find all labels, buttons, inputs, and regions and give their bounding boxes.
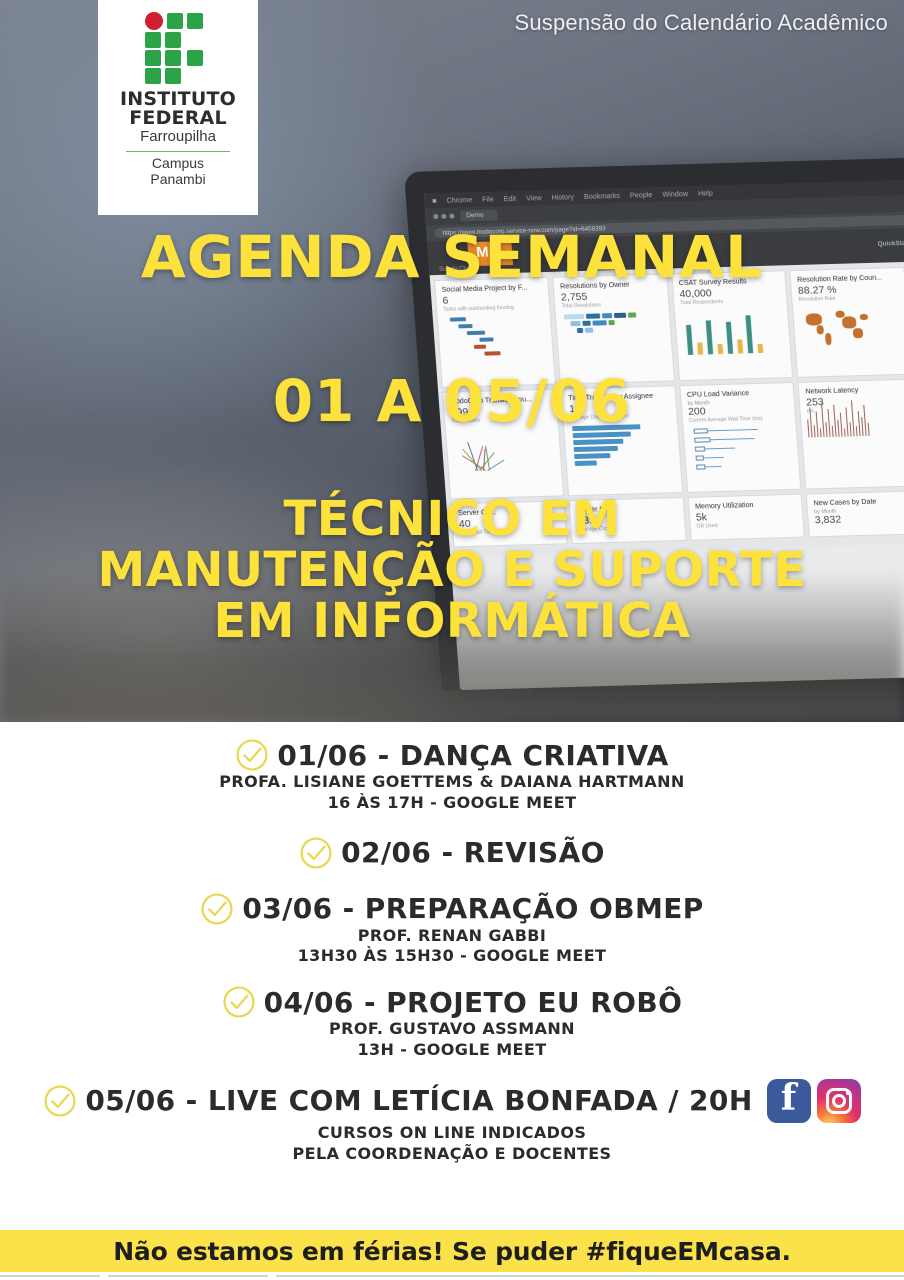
- menubar-item: Bookmarks: [584, 191, 621, 201]
- course-name-line2: MANUTENÇÃO E SUPORTE: [0, 545, 904, 596]
- menubar-apple-icon: ■: [432, 196, 437, 205]
- menubar-item: View: [526, 193, 542, 202]
- calendar-suspension-notice: Suspensão do Calendário Acadêmico: [514, 10, 888, 36]
- agenda-item-detail: CURSOS ON LINE INDICADOS: [0, 1123, 904, 1144]
- check-circle-icon: [299, 836, 333, 870]
- agenda-item-header: 03/06 - PREPARAÇÃO OBMEP: [0, 892, 904, 926]
- check-circle-icon: [222, 985, 256, 1019]
- agenda-item-detail: 13H30 ÀS 15H30 - GOOGLE MEET: [0, 946, 904, 967]
- agenda-item-header: 02/06 - REVISÃO: [0, 836, 904, 870]
- agenda-item-detail: 16 ÀS 17H - GOOGLE MEET: [0, 793, 904, 814]
- menubar-item: Help: [698, 188, 713, 197]
- course-name-line3: EM INFORMÁTICA: [0, 596, 904, 647]
- agenda-item: 04/06 - PROJETO EU ROBÔ PROF. GUSTAVO AS…: [0, 985, 904, 1061]
- check-circle-icon: [200, 892, 234, 926]
- check-circle-icon: [235, 738, 269, 772]
- facebook-icon[interactable]: [767, 1079, 811, 1123]
- window-controls: [433, 214, 454, 220]
- date-range: 01 A 05/06: [0, 372, 904, 430]
- hero-title-block: AGENDA SEMANAL 01 A 05/06 TÉCNICO EM MAN…: [0, 228, 904, 647]
- agenda-item: 03/06 - PREPARAÇÃO OBMEP PROF. RENAN GAB…: [0, 892, 904, 968]
- footer-banner: Não estamos em férias! Se puder #fiqueEM…: [0, 1230, 904, 1272]
- agenda-item-header: 04/06 - PROJETO EU ROBÔ: [0, 985, 904, 1019]
- agenda-item-header: 05/06 - LIVE COM LETÍCIA BONFADA / 20H: [0, 1079, 904, 1123]
- bottom-strip: [0, 1272, 904, 1280]
- agenda-item-detail: 13H - GOOGLE MEET: [0, 1040, 904, 1061]
- page-title: AGENDA SEMANAL: [0, 228, 904, 286]
- footer-message: Não estamos em férias! Se puder #fiqueEM…: [113, 1237, 791, 1266]
- campus-line2: Panambi: [150, 172, 205, 187]
- institution-name-line1: INSTITUTO: [120, 90, 236, 109]
- instituto-federal-logo-icon: [137, 12, 219, 84]
- agenda-item: 05/06 - LIVE COM LETÍCIA BONFADA / 20H C…: [0, 1079, 904, 1165]
- agenda-item-title: 01/06 - DANÇA CRIATIVA: [277, 739, 668, 772]
- menubar-item: Window: [662, 189, 688, 199]
- browser-tab: Demo: [460, 209, 498, 221]
- check-circle-icon: [43, 1084, 77, 1118]
- campus-line1: Campus: [152, 156, 204, 171]
- social-links: [767, 1079, 861, 1123]
- agenda-item: 01/06 - DANÇA CRIATIVA PROFA. LISIANE GO…: [0, 738, 904, 814]
- poster-root: ■ Chrome File Edit View History Bookmark…: [0, 0, 904, 1280]
- agenda-item-header: 01/06 - DANÇA CRIATIVA: [0, 738, 904, 772]
- agenda-item: 02/06 - REVISÃO: [0, 836, 904, 870]
- menubar-item: Chrome: [446, 195, 472, 205]
- agenda-item-title: 02/06 - REVISÃO: [341, 836, 605, 869]
- institution-subtitle: Farroupilha: [140, 128, 216, 145]
- menubar-item: File: [482, 194, 494, 203]
- menubar-item: History: [551, 192, 574, 202]
- menubar-item: People: [630, 190, 653, 200]
- instagram-icon[interactable]: [817, 1079, 861, 1123]
- agenda-item-detail: PROF. RENAN GABBI: [0, 926, 904, 947]
- institution-name-line2: FEDERAL: [129, 109, 227, 128]
- agenda-item-detail: PELA COORDENAÇÃO E DOCENTES: [0, 1144, 904, 1165]
- agenda-item-detail: PROF. GUSTAVO ASSMANN: [0, 1019, 904, 1040]
- agenda-item-title: 05/06 - LIVE COM LETÍCIA BONFADA / 20H: [85, 1084, 752, 1117]
- agenda-list: 01/06 - DANÇA CRIATIVA PROFA. LISIANE GO…: [0, 722, 904, 1230]
- menubar-item: Edit: [503, 194, 516, 203]
- institution-logo-card: INSTITUTO FEDERAL Farroupilha Campus Pan…: [98, 0, 258, 215]
- agenda-item-detail: PROFA. LISIANE GOETTEMS & DAIANA HARTMAN…: [0, 772, 904, 793]
- logo-divider: [126, 151, 230, 152]
- course-name-line1: TÉCNICO EM: [0, 494, 904, 545]
- agenda-item-title: 03/06 - PREPARAÇÃO OBMEP: [242, 892, 703, 925]
- agenda-item-title: 04/06 - PROJETO EU ROBÔ: [264, 986, 683, 1019]
